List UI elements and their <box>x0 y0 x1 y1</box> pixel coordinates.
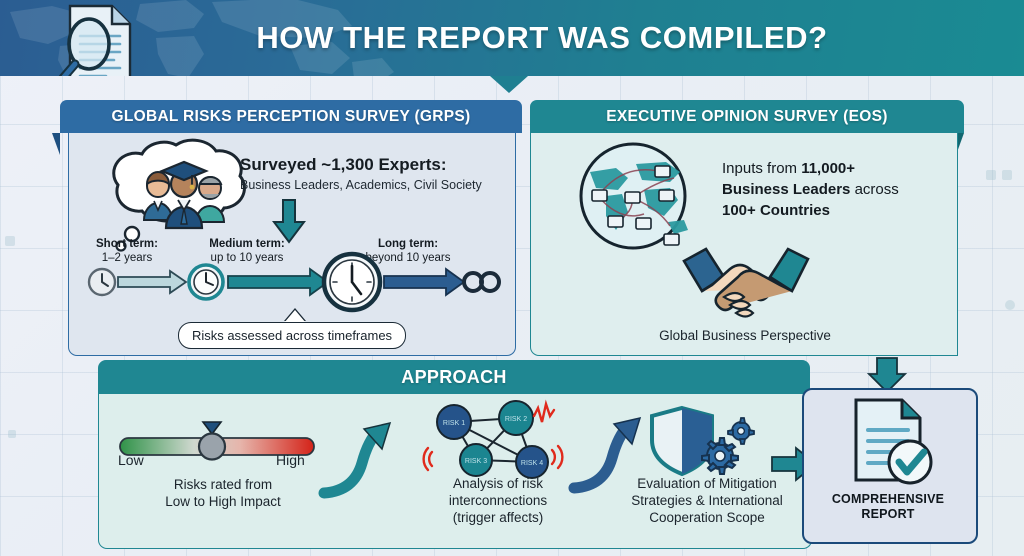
shield-gears-icon <box>648 404 758 480</box>
document-check-icon <box>846 396 938 488</box>
svg-text:RISK 2: RISK 2 <box>505 416 527 423</box>
banner-notch <box>490 76 528 93</box>
decor-dot <box>986 170 996 180</box>
svg-text:RISK 3: RISK 3 <box>465 458 487 465</box>
timeline-graphic <box>82 250 502 316</box>
eos-caption: Global Business Perspective <box>600 328 890 343</box>
infinity-icon <box>464 273 499 291</box>
panel-approach-header: APPROACH <box>98 360 810 394</box>
curved-arrow-icon <box>320 415 406 501</box>
clock-icon <box>189 265 223 299</box>
approach-step2-caption: Analysis of risk interconnections (trigg… <box>414 475 582 526</box>
report-caption: COMPREHENSIVEREPORT <box>802 492 974 522</box>
svg-text:RISK 1: RISK 1 <box>443 420 465 427</box>
globe-network-briefcase-icon <box>558 138 708 256</box>
decor-dot <box>5 236 15 246</box>
network-nodes-icon: RISK 1RISK 2 RISK 3RISK 4 <box>428 398 566 480</box>
infographic-root: HOW THE REPORT WAS COMPILED? GLOBAL RISK… <box>0 0 1024 556</box>
panel-grps-header: GLOBAL RISKS PERCEPTION SURVEY (GRPS) <box>60 100 522 133</box>
page-banner: HOW THE REPORT WAS COMPILED? <box>0 0 1024 76</box>
panel-eos-header: EXECUTIVE OPINION SURVEY (EOS) <box>530 100 964 133</box>
panel-grps-fold <box>52 133 60 155</box>
callout-timeframes: Risks assessed across timeframes <box>178 322 406 349</box>
handshake-icon <box>676 243 816 325</box>
svg-text:RISK 4: RISK 4 <box>521 460 543 467</box>
slider-high-label: High <box>276 452 305 468</box>
surveyed-title: Surveyed ~1,300 Experts: <box>240 155 446 175</box>
clock-icon <box>324 254 380 310</box>
slider-low-label: Low <box>118 452 144 468</box>
decor-dot <box>8 430 16 438</box>
decor-dot <box>1005 300 1015 310</box>
clock-icon <box>89 269 115 295</box>
approach-step3-caption: Evaluation of Mitigation Strategies & In… <box>612 475 802 526</box>
approach-step1-caption: Risks rated from Low to High Impact <box>128 476 318 510</box>
surveyed-subtitle: Business Leaders, Academics, Civil Socie… <box>240 178 482 192</box>
eos-text: Inputs from 11,000+ Business Leaders acr… <box>722 158 952 221</box>
decor-dot <box>1002 170 1012 180</box>
page-title: HOW THE REPORT WAS COMPILED? <box>0 0 1024 76</box>
down-arrow-icon <box>866 358 908 392</box>
